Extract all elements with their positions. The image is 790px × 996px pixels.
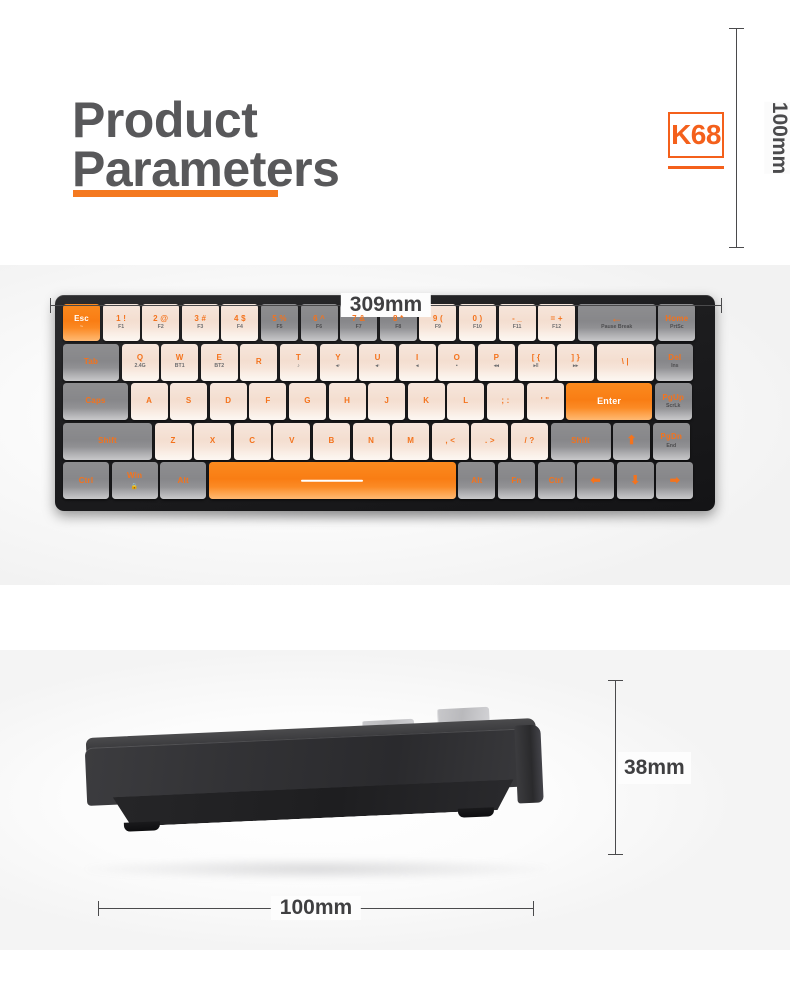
key-ctrl-r4c0[interactable]: Ctrl — [63, 462, 109, 499]
key-r-r1c4[interactable]: R — [240, 344, 277, 381]
key-legend: Home — [665, 315, 688, 324]
key-sublegend: F10 — [473, 325, 482, 331]
key-space-r2c10[interactable]: ; : — [487, 383, 524, 420]
key-legend: V — [289, 437, 295, 446]
key-win-r4c1[interactable]: Win🔒 — [112, 462, 158, 499]
key-sublegend: PrtSc — [670, 325, 684, 331]
dimension-tick-top — [729, 28, 744, 29]
key-legend: . > — [485, 437, 495, 446]
keyboard-row: CtrlWin🔒AltAltFnCtrl⬅⬇➡ — [63, 462, 707, 499]
key-legend: D — [225, 397, 231, 406]
key-sublegend: F3 — [197, 325, 203, 331]
key-sublegend: BT2 — [214, 364, 224, 370]
key-legend: Y — [335, 354, 341, 363]
key-legend: 4 $ — [234, 315, 246, 324]
dimension-tick-left — [98, 901, 99, 916]
key-sublegend: F12 — [552, 325, 561, 331]
key-pgup-r2c13[interactable]: PgUpScrLk — [655, 383, 692, 420]
key-legend: [ { — [532, 354, 541, 363]
key-legend: PgUp — [662, 394, 684, 403]
key-legend: 1 ! — [116, 315, 126, 324]
lock-icon: 🔒 — [131, 483, 138, 490]
product-logo-label: K68 — [671, 121, 721, 149]
key-legend: Q — [137, 354, 143, 363]
dimension-tick-top — [608, 680, 623, 681]
key-c-r3c3[interactable]: C — [234, 423, 271, 460]
key-legend: R — [256, 358, 262, 367]
key-sublegend: F4 — [237, 325, 243, 331]
key-sublegend: F8 — [395, 325, 401, 331]
product-logo-badge: K68 — [668, 112, 724, 158]
page-title-line2: Parameters — [72, 141, 339, 197]
key-sublegend: ◂· — [336, 364, 340, 370]
dimension-tick-bottom — [608, 854, 623, 855]
key-alt-r4c4[interactable]: Alt — [458, 462, 495, 499]
key-arrow-icon: ⬆ — [626, 436, 636, 446]
dimension-label-height: 38mm — [618, 752, 691, 784]
key-sublegend: F6 — [316, 325, 322, 331]
dimension-keyboard-height: 38mm — [608, 680, 728, 855]
key-sublegend: F2 — [158, 325, 164, 331]
key-o-r1c9[interactable]: O▪ — [438, 344, 475, 381]
page-title-line2-wrap: Parameters — [72, 145, 339, 194]
key-legend: , < — [445, 437, 455, 446]
key-legend: E — [217, 354, 223, 363]
key-legend: 2 @ — [153, 315, 168, 324]
key-arrow-icon: ← — [611, 314, 623, 324]
key-legend: X — [210, 437, 216, 446]
key-sublegend: End — [666, 444, 676, 450]
keyboard-side-view — [86, 670, 561, 870]
key-sublegend: F7 — [356, 325, 362, 331]
keyboard-case-rear — [514, 724, 543, 803]
key-legend: M — [407, 437, 414, 446]
key-legend: 0 ) — [472, 315, 482, 324]
key-v-r3c4[interactable]: V — [273, 423, 310, 460]
key-shift-r3c11[interactable]: Shift — [551, 423, 611, 460]
key-sublegend: BT1 — [175, 364, 185, 370]
key-sublegend: ♪ — [297, 364, 300, 370]
key-s-r2c2[interactable]: S — [170, 383, 207, 420]
spacebar-indicator-line — [301, 480, 363, 483]
key-legend: U — [375, 354, 381, 363]
key-n-r3c6[interactable]: N — [353, 423, 390, 460]
key-b-r3c5[interactable]: B — [313, 423, 350, 460]
key-legend: / ? — [524, 437, 534, 446]
key-d-r2c3[interactable]: D — [210, 383, 247, 420]
key-pgdn-r3c13[interactable]: PgDnEnd — [653, 423, 690, 460]
keyboard-row: CapsASDFGHJKL; :' "EnterPgUpScrLk — [63, 383, 707, 420]
keyboard-foot-front — [124, 821, 160, 832]
key-legend: Esc — [74, 315, 89, 324]
key-legend: W — [176, 354, 184, 363]
key-space-r4c9[interactable]: ➡ — [656, 462, 693, 499]
key-u-r1c7[interactable]: U◂· — [359, 344, 396, 381]
key-arrow-icon: ⬇ — [630, 476, 640, 486]
key-legend: O — [454, 354, 460, 363]
key-sublegend: F1 — [118, 325, 124, 331]
key-legend: 3 # — [194, 315, 206, 324]
key-f-r2c4[interactable]: F — [249, 383, 286, 420]
key-a-r2c1[interactable]: A — [131, 383, 168, 420]
key-fn-r4c5[interactable]: Fn — [498, 462, 535, 499]
key-sublegend: F11 — [513, 325, 522, 331]
key-legend: K — [423, 397, 429, 406]
key-space-r4c3[interactable] — [209, 462, 456, 499]
key-legend: Ctrl — [79, 477, 94, 486]
key-j-r2c7[interactable]: J — [368, 383, 405, 420]
page-header: Product Parameters K68 — [0, 0, 790, 250]
key-space-r1c13[interactable]: \ | — [597, 344, 654, 381]
key-legend: Ctrl — [549, 477, 564, 486]
dimension-tick-right — [533, 901, 534, 916]
key-q-r1c1[interactable]: Q2.4G — [122, 344, 159, 381]
keyboard-row: ShiftZXCVBNM, <. >/ ?Shift⬆PgDnEnd — [63, 423, 707, 460]
key-l-r2c9[interactable]: L — [447, 383, 484, 420]
key-space-r2c11[interactable]: ' " — [527, 383, 564, 420]
key-legend: S — [186, 397, 192, 406]
key-sublegend: ▸▸ — [573, 364, 578, 370]
key-enter-r2c12[interactable]: Enter — [566, 383, 652, 420]
key-legend: G — [304, 397, 310, 406]
key-space-r4c8[interactable]: ⬇ — [617, 462, 654, 499]
key-sublegend: Pause Break — [601, 325, 632, 331]
key-caps-r2c0[interactable]: Caps — [63, 383, 128, 420]
key-legend: L — [463, 397, 468, 406]
dimension-label-side-depth: 100mm — [271, 896, 361, 920]
page-title: Product Parameters — [72, 96, 339, 194]
key-sublegend: ◂◂ — [494, 364, 499, 370]
title-underline-accent — [73, 190, 278, 197]
key-space-r1c12[interactable]: ] }▸▸ — [557, 344, 594, 381]
key-legend: Win — [127, 472, 142, 481]
key-legend: J — [384, 397, 389, 406]
key-t-r1c5[interactable]: T♪ — [280, 344, 317, 381]
key-space-r3c9[interactable]: . > — [471, 423, 508, 460]
key-legend: PgDn — [660, 433, 682, 442]
key-legend: = + — [551, 315, 563, 324]
key-alt-r4c2[interactable]: Alt — [160, 462, 206, 499]
key-legend: A — [146, 397, 152, 406]
key-y-r1c6[interactable]: Y◂· — [320, 344, 357, 381]
key-legend: C — [249, 437, 255, 446]
dimension-keyboard-side-depth: 100mm — [98, 895, 534, 921]
key-legend: B — [328, 437, 334, 446]
key-space-r1c11[interactable]: [ {▸‖ — [518, 344, 555, 381]
key-legend: Del — [668, 354, 681, 363]
key-legend: ' " — [541, 397, 550, 406]
key-h-r2c6[interactable]: H — [329, 383, 366, 420]
key-legend: 8 * — [393, 315, 403, 324]
key-sublegend: ◂· — [375, 364, 379, 370]
key-legend: ] } — [571, 354, 580, 363]
key-legend: Z — [171, 437, 176, 446]
dimension-line — [736, 28, 737, 248]
keyboard-foot-rear — [458, 807, 494, 818]
key-g-r2c5[interactable]: G — [289, 383, 326, 420]
key-legend: Enter — [597, 397, 621, 407]
key-legend: Alt — [178, 477, 189, 486]
key-space-r4c7[interactable]: ⬅ — [577, 462, 614, 499]
key-legend: - _ — [512, 315, 522, 324]
key-del-r1c14[interactable]: DelIns — [656, 344, 693, 381]
key-arrow-icon: ➡ — [670, 476, 680, 486]
key-legend: 7 & — [352, 315, 365, 324]
key-x-r3c2[interactable]: X — [194, 423, 231, 460]
key-legend: T — [296, 354, 301, 363]
key-sublegend: ▸‖ — [533, 364, 538, 370]
key-arrow-icon: ⬅ — [591, 476, 601, 486]
logo-underline-rule — [668, 166, 724, 169]
dimension-tick-left — [50, 298, 51, 313]
key-i-r1c8[interactable]: I◂ — [399, 344, 436, 381]
key-legend: Caps — [85, 397, 105, 406]
dimension-tick-bottom — [729, 247, 744, 248]
key-legend: 6 ^ — [313, 315, 325, 324]
key-sublegend: ScrLk — [666, 404, 680, 410]
key-w-r1c2[interactable]: WBT1 — [161, 344, 198, 381]
key-sublegend: ◂ — [416, 364, 419, 370]
key-legend: H — [344, 397, 350, 406]
key-legend: Fn — [511, 477, 521, 486]
keyboard-top-view: Esc~1 !F12 @F23 #F34 $F45 %F56 ^F67 &F78… — [55, 295, 715, 511]
dimension-tick-right — [721, 298, 722, 313]
key-sublegend: 2.4G — [134, 364, 145, 370]
keyboard-row: TabQ2.4GWBT1EBT2RT♪Y◂·U◂·I◂O▪P◂◂[ {▸‖] }… — [63, 344, 707, 381]
key-legend: Alt — [471, 477, 482, 486]
key-space-r3c12[interactable]: ⬆ — [613, 423, 650, 460]
key-m-r3c7[interactable]: M — [392, 423, 429, 460]
key-tab-r1c0[interactable]: Tab — [63, 344, 119, 381]
key-sublegend: F5 — [276, 325, 282, 331]
key-legend: ; : — [501, 397, 509, 406]
key-legend: N — [368, 437, 374, 446]
page-title-line1: Product — [72, 96, 339, 145]
key-legend: P — [494, 354, 500, 363]
key-shift-r3c0[interactable]: Shift — [63, 423, 152, 460]
key-legend: Shift — [98, 437, 117, 446]
key-legend: I — [416, 354, 418, 363]
key-e-r1c3[interactable]: EBT2 — [201, 344, 238, 381]
key-sublegend: F9 — [435, 325, 441, 331]
key-z-r3c1[interactable]: Z — [155, 423, 192, 460]
dimension-label-depth: 100mm — [764, 102, 790, 174]
key-space-r3c8[interactable]: , < — [432, 423, 469, 460]
key-sublegend: Ins — [671, 364, 679, 370]
dimension-line — [615, 680, 616, 855]
key-space-r3c10[interactable]: / ? — [511, 423, 548, 460]
key-ctrl-r4c6[interactable]: Ctrl — [538, 462, 575, 499]
key-sublegend: ▪ — [456, 364, 458, 370]
key-k-r2c8[interactable]: K — [408, 383, 445, 420]
key-legend: Shift — [571, 437, 590, 446]
key-p-r1c10[interactable]: P◂◂ — [478, 344, 515, 381]
key-legend: Tab — [84, 358, 98, 367]
key-legend: \ | — [622, 358, 629, 367]
key-sublegend: ~ — [80, 325, 83, 331]
key-legend: 5 % — [272, 315, 286, 324]
key-legend: 9 ( — [433, 315, 443, 324]
dimension-keyboard-depth: 100mm — [729, 28, 769, 248]
key-legend: F — [265, 397, 270, 406]
